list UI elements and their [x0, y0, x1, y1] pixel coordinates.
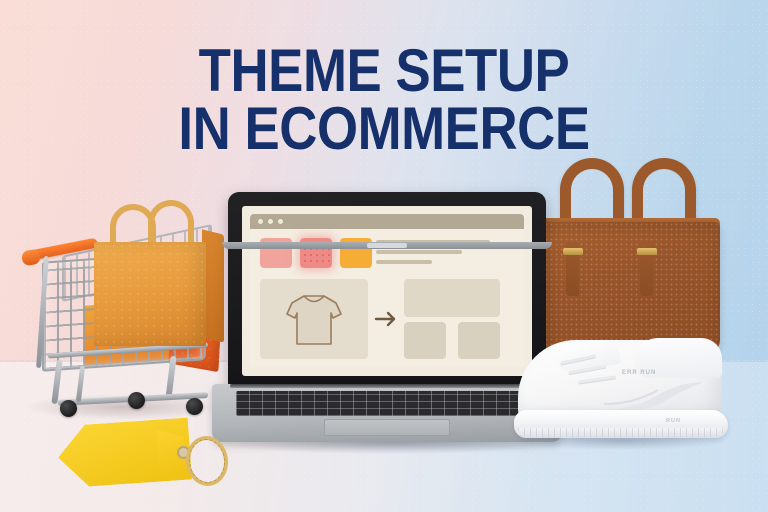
title-line-2: IN ECOMMERCE [46, 100, 722, 158]
handbag-handle-right [632, 158, 696, 226]
text-line-2 [376, 250, 462, 254]
product-preview-panel [260, 279, 368, 359]
title-line-1: THEME SETUP [46, 42, 722, 100]
laptop-keyboard[interactable] [236, 391, 538, 416]
browser-content [250, 229, 524, 367]
page-title: THEME SETUP IN ECOMMERCE [0, 42, 768, 158]
shopping-cart [18, 198, 233, 430]
handbag-buckle-left [563, 248, 583, 255]
browser-dot-minimize-icon [268, 219, 273, 224]
paper-shopping-bag [94, 198, 222, 350]
laptop-lid [228, 192, 546, 388]
browser-titlebar [250, 214, 524, 229]
sneaker-side-stripe-icon [598, 380, 706, 414]
layout-block-left [404, 322, 446, 359]
price-tag-rope [184, 434, 231, 488]
tshirt-icon [282, 291, 346, 349]
text-line-3 [376, 260, 432, 264]
laptop-screen [242, 206, 532, 376]
shopping-bag-front [94, 242, 206, 346]
handbag-buckle-right [637, 248, 657, 255]
laptop-base-notch [367, 243, 407, 248]
cart-wheel [186, 398, 203, 415]
layout-block-hero [404, 279, 500, 317]
handbag-handle-left [560, 158, 624, 226]
sneaker-sole-tread [518, 428, 724, 437]
sneaker-brand-mark: ERR RUN [622, 370, 656, 376]
white-sneaker: ERR RUN RUN [506, 336, 741, 456]
layout-block-right [458, 322, 500, 359]
cart-handle-knob [21, 248, 42, 266]
browser-dot-maximize-icon [278, 219, 283, 224]
price-tag [58, 414, 248, 500]
cart-wheel [128, 392, 145, 409]
browser-dot-close-icon [258, 219, 263, 224]
laptop-trackpad[interactable] [324, 419, 450, 436]
arrow-right-icon [374, 311, 398, 327]
sneaker-heel-mark: RUN [666, 418, 681, 424]
laptop-hinge [230, 384, 544, 388]
promo-banner: THEME SETUP IN ECOMMERCE [0, 0, 768, 512]
